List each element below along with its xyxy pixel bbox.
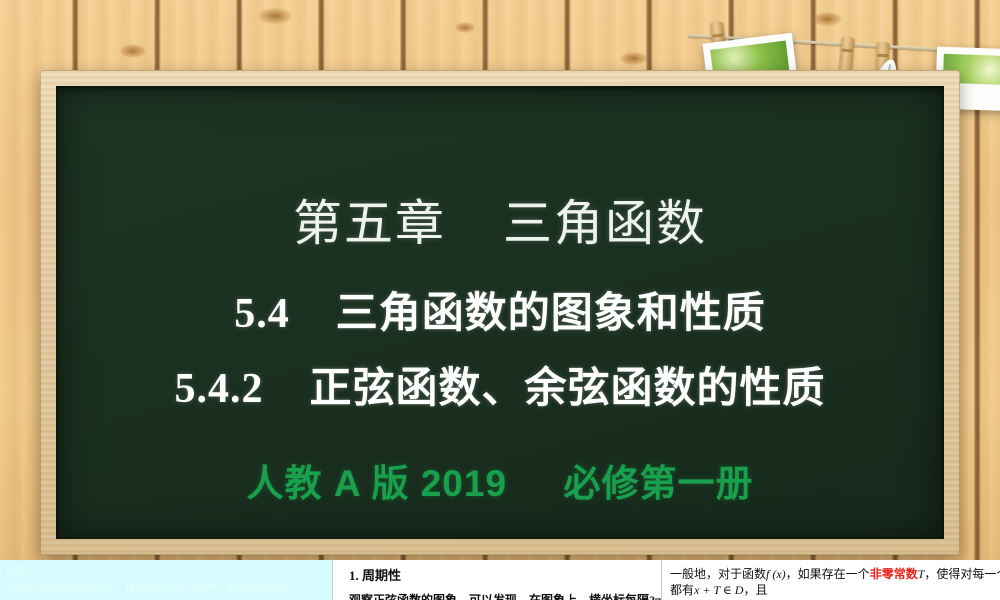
wood-knot (120, 44, 146, 58)
bottom-strip: 探究： 类比以往对函数性质的研究，你认为应研究正弦函数、余弦函数的哪些 1. 周… (0, 560, 1000, 600)
def-text-f: ，且 (743, 583, 767, 597)
def-expr-xplusT: x + T ∈ D (694, 583, 743, 597)
explore-title: 探究： (6, 566, 324, 577)
section-title: 5.4 三角函数的图象和性质 (234, 279, 766, 340)
blackboard-frame: 第五章 三角函数 5.4 三角函数的图象和性质 5.4.2 正弦函数、余弦函数的… (40, 70, 960, 555)
subsection-title: 5.4.2 正弦函数、余弦函数的性质 (174, 354, 825, 415)
def-text-a: 一般地，对于函数 (670, 567, 766, 581)
explore-body: 类比以往对函数性质的研究，你认为应研究正弦函数、余弦函数的哪些 (6, 581, 324, 593)
slide-canvas: 第五章 三角函数 5.4 三角函数的图象和性质 5.4.2 正弦函数、余弦函数的… (0, 0, 1000, 600)
pane-explore[interactable]: 探究： 类比以往对函数性质的研究，你认为应研究正弦函数、余弦函数的哪些 (0, 560, 332, 600)
edition-label: 人教 A 版 2019 必修第一册 (247, 453, 754, 507)
def-text-b: ，如果存在一个 (786, 567, 870, 581)
periodicity-body: 观察正弦函数的图象，可以发现，在图象上，横坐标每隔2π个单位长度 (349, 591, 651, 600)
periodicity-heading: 1. 周期性 (349, 565, 651, 584)
wood-knot (455, 22, 475, 33)
pane-periodicity[interactable]: 1. 周期性 观察正弦函数的图象，可以发现，在图象上，横坐标每隔2π个单位长度 (332, 560, 662, 600)
def-text-c: ，使得对每一个 (924, 567, 1000, 581)
wood-knot (258, 8, 292, 24)
wood-knot (812, 12, 842, 26)
def-text-e: 都有 (670, 583, 694, 597)
wood-knot (620, 52, 648, 65)
def-function-f: f (x) (766, 567, 786, 581)
chapter-title: 第五章 三角函数 (293, 184, 707, 255)
def-highlight-nonzero-constant: 非零常数 (870, 567, 918, 581)
definition-line-1: 一般地，对于函数f (x)，如果存在一个非零常数T，使得对每一个x ∈ D， (670, 566, 994, 582)
blackboard: 第五章 三角函数 5.4 三角函数的图象和性质 5.4.2 正弦函数、余弦函数的… (56, 86, 944, 539)
pane-definition[interactable]: 一般地，对于函数f (x)，如果存在一个非零常数T，使得对每一个x ∈ D， 都… (662, 560, 1000, 600)
definition-line-2: 都有x + T ∈ D，且 (670, 582, 994, 598)
